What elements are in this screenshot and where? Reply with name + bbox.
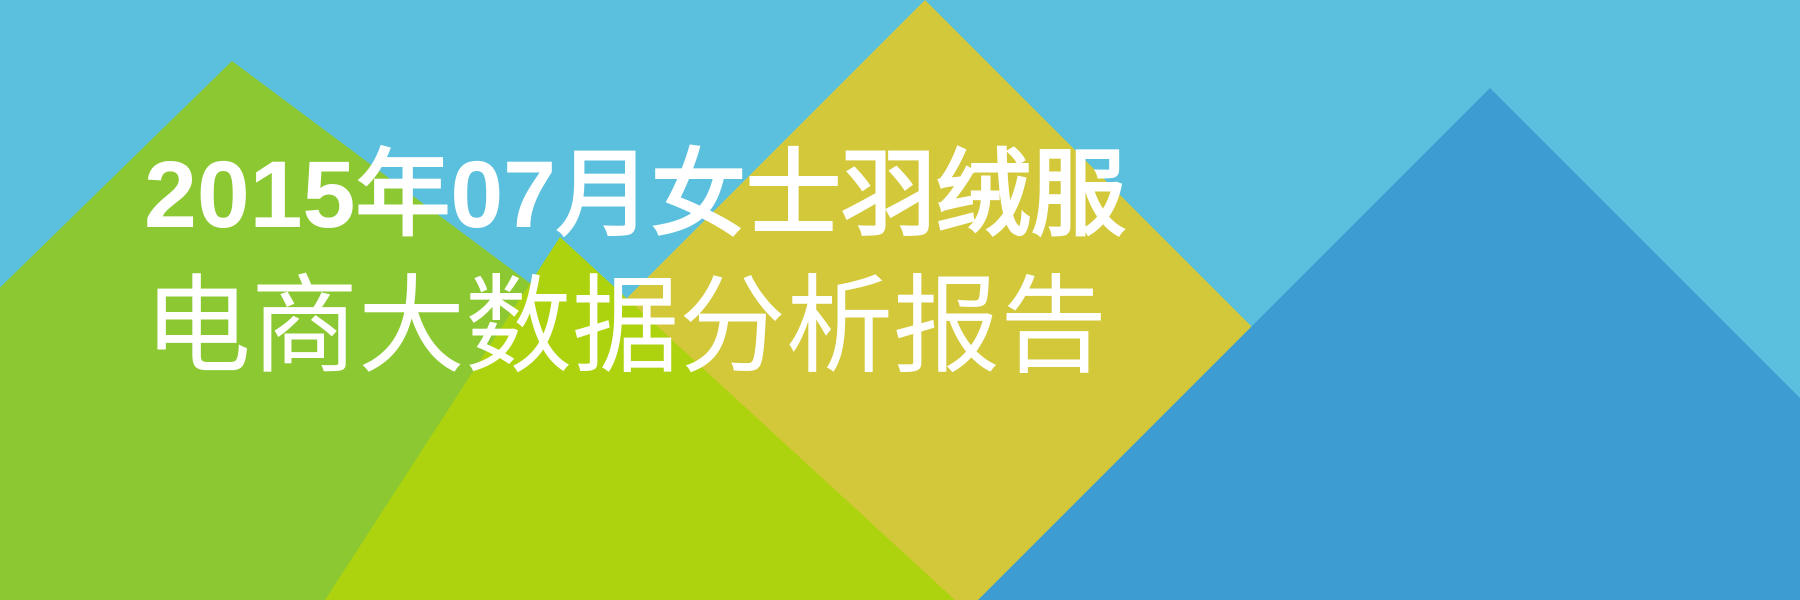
report-cover-banner: 2015年07月女士羽绒服 电商大数据分析报告 — [0, 0, 1800, 600]
decorative-triangles-background — [0, 0, 1800, 600]
